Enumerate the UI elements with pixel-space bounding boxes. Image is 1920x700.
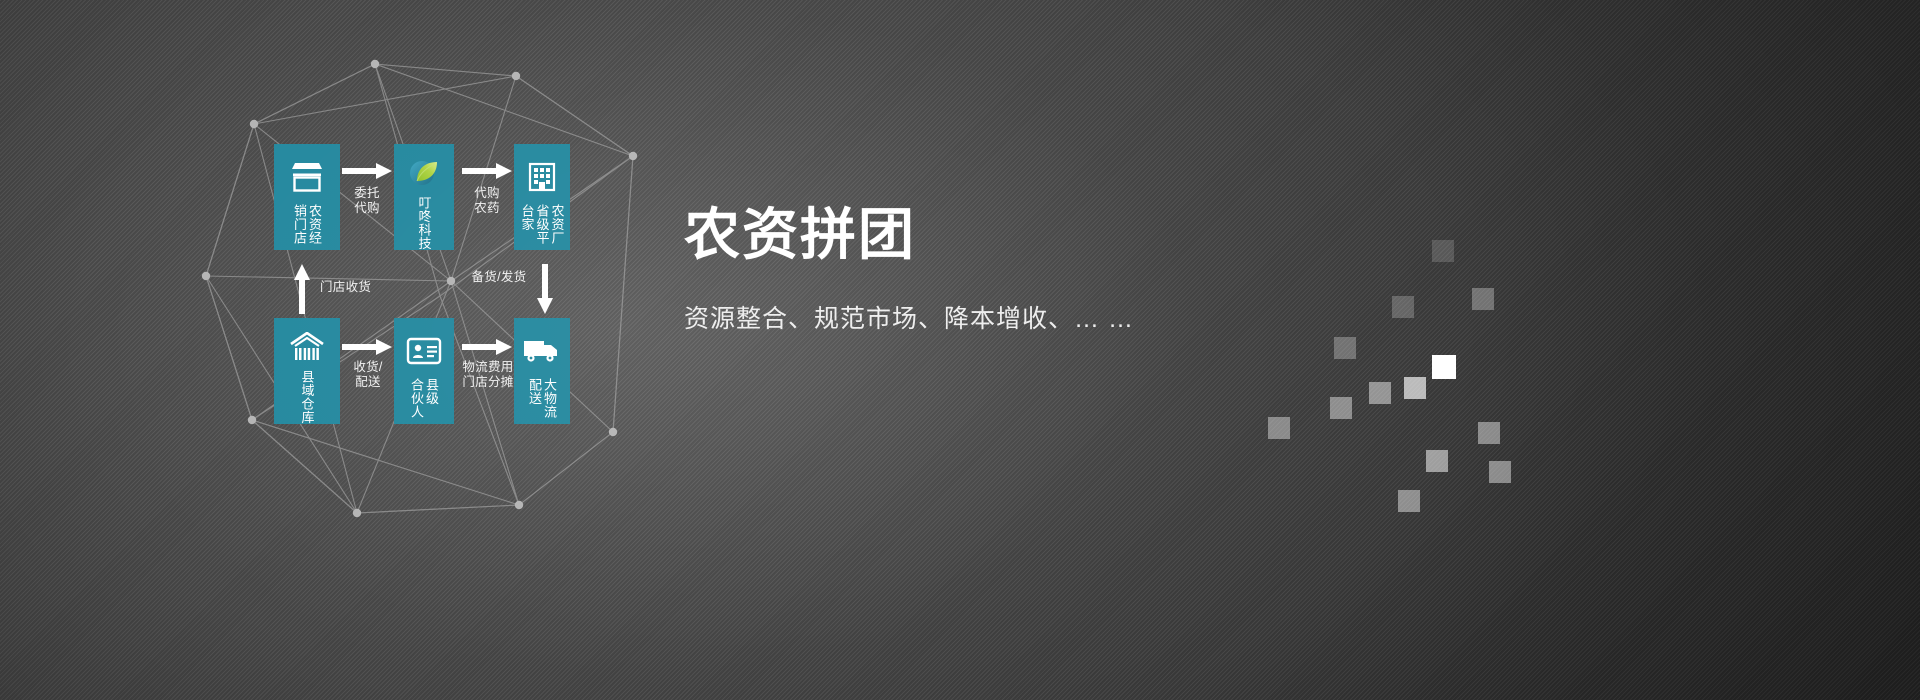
arrow-partner-to-logistics: [460, 336, 514, 358]
node-label: 农资厂 省级平 台家: [520, 204, 565, 245]
deco-square: [1404, 377, 1426, 399]
truck-icon: [521, 330, 563, 372]
page-subtitle: 资源整合、规范市场、降本增收、… …: [684, 302, 1134, 336]
flow-label-entrust-purchase: 委托 代购: [342, 186, 392, 216]
deco-square: [1369, 382, 1391, 404]
deco-square: [1426, 450, 1448, 472]
deco-square: [1478, 422, 1500, 444]
flow-label-proxy-pesticide: 代购 农药: [462, 186, 512, 216]
deco-square: [1330, 397, 1352, 419]
node-label: 县级 合伙人: [409, 378, 439, 419]
deco-square: [1489, 461, 1511, 483]
deco-square: [1472, 288, 1494, 310]
storefront-icon: [286, 156, 328, 198]
node-dingdong-tech[interactable]: 叮咚科技: [394, 144, 454, 250]
arrow-warehouse-to-partner: [340, 336, 394, 358]
arrow-up-to-store: [291, 262, 313, 316]
flow-label-stock-ship: 备货/发货: [466, 270, 532, 285]
deco-square: [1268, 417, 1290, 439]
node-label: 县域仓库: [300, 370, 315, 424]
node-logistics[interactable]: 大物流 配送: [514, 318, 570, 424]
arrow-tech-to-platform: [460, 160, 514, 182]
node-label: 农资经 销门店: [292, 204, 322, 245]
deco-square: [1432, 355, 1456, 379]
deco-square: [1398, 490, 1420, 512]
node-provincial-platform[interactable]: 农资厂 省级平 台家: [514, 144, 570, 250]
id-card-icon: [403, 330, 445, 372]
node-agri-store[interactable]: 农资经 销门店: [274, 144, 340, 250]
page-title: 农资拼团: [684, 203, 916, 267]
flow-label-store-receive: 门店收货: [320, 280, 390, 295]
arrow-store-to-tech: [340, 160, 394, 182]
leaf-logo-icon: [403, 156, 445, 190]
node-county-warehouse[interactable]: 县域仓库: [274, 318, 340, 424]
node-label: 叮咚科技: [417, 196, 432, 250]
deco-square: [1392, 296, 1414, 318]
building-icon: [521, 156, 563, 198]
warehouse-icon: [286, 330, 328, 364]
hero-banner: 农资经 销门店: [0, 0, 1920, 700]
arrow-down-to-logistics: [534, 262, 556, 316]
deco-square: [1432, 240, 1454, 262]
node-label: 大物流 配送: [527, 378, 557, 419]
node-county-partner[interactable]: 县级 合伙人: [394, 318, 454, 424]
flow-label-receive-deliver: 收货/ 配送: [344, 360, 392, 390]
flow-label-logistics-fee: 物流费用 门店分摊: [458, 360, 518, 390]
deco-square: [1334, 337, 1356, 359]
